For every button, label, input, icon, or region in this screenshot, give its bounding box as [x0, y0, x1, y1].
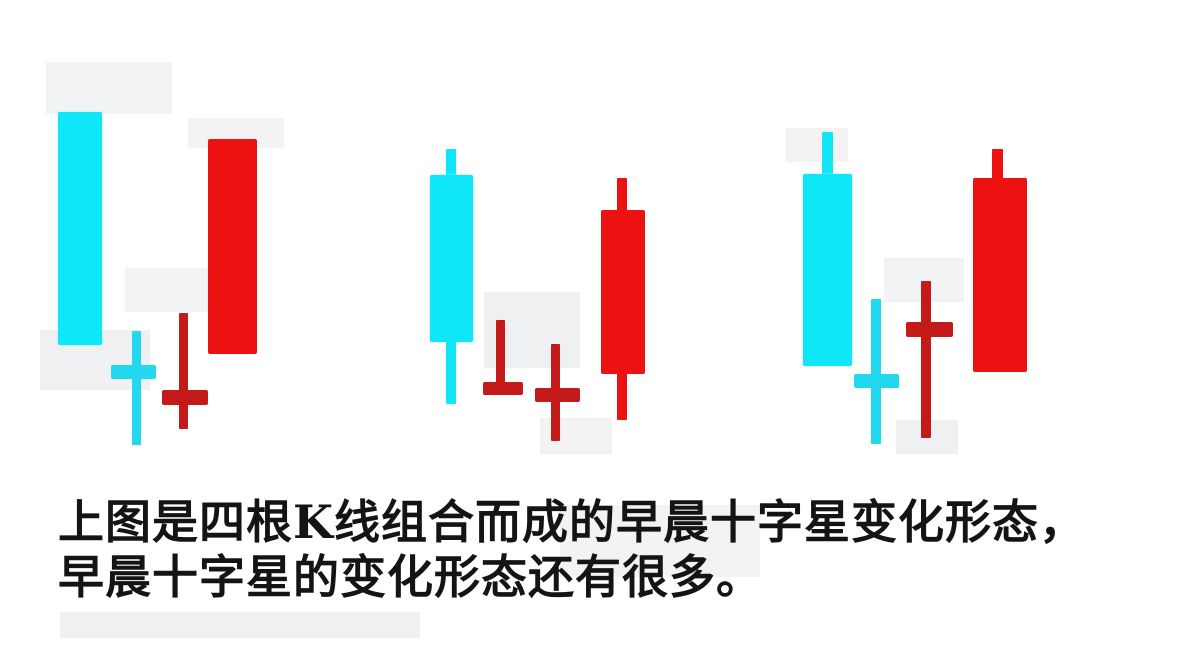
candle-wick-upper — [617, 178, 627, 212]
candle-body — [208, 139, 257, 354]
caption-line-1: 上图是四根K线组合而成的早晨十字星变化形态， — [58, 495, 1158, 550]
candle-wick-upper — [446, 149, 456, 177]
candle-body — [973, 178, 1027, 372]
candle-body — [111, 365, 156, 379]
candle-wick — [179, 313, 188, 429]
candle-body — [854, 374, 899, 388]
candle-body — [535, 388, 580, 402]
screenshot-root: 上图是四根K线组合而成的早晨十字星变化形态， 早晨十字星的变化形态还有很多。 — [0, 0, 1179, 670]
candle-body — [162, 390, 208, 405]
candle-body — [430, 175, 473, 342]
candle-wick — [871, 299, 881, 444]
candle-body — [906, 322, 953, 337]
candle-wick-lower — [617, 372, 627, 420]
candle-body — [803, 174, 852, 366]
candle-body — [601, 210, 645, 374]
candle-body — [483, 382, 523, 395]
candle-body — [58, 112, 102, 345]
candle-wick — [132, 331, 141, 445]
caption-line-2: 早晨十字星的变化形态还有很多。 — [58, 550, 1158, 605]
caption-block: 上图是四根K线组合而成的早晨十字星变化形态， 早晨十字星的变化形态还有很多。 — [58, 495, 1158, 605]
scan-artifact — [60, 612, 420, 638]
candle-wick-upper — [992, 149, 1003, 181]
candlestick-chart — [0, 0, 1179, 480]
candle-wick-lower — [446, 340, 456, 404]
candle-wick — [921, 281, 931, 438]
candle-wick-upper — [822, 132, 833, 176]
